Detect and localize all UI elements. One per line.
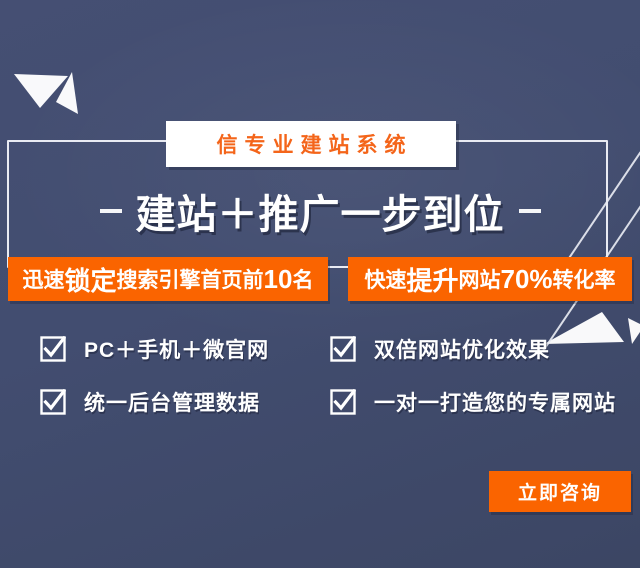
headline-dash-right bbox=[519, 209, 541, 213]
badge-text-segment: 名 bbox=[292, 264, 313, 294]
badge-text-segment: 10 bbox=[264, 264, 293, 295]
feature-item: PC＋手机＋微官网 bbox=[40, 334, 269, 364]
badge-text-segment: 网站 bbox=[458, 264, 500, 294]
feature-label: 一对一打造您的专属网站 bbox=[374, 387, 616, 417]
feature-item: 双倍网站优化效果 bbox=[330, 334, 550, 364]
badge-text-segment: 快速 bbox=[364, 264, 406, 294]
badge-text-segment: 迅速 bbox=[23, 264, 65, 294]
page-title: 建站＋推广一步到位 bbox=[136, 182, 505, 240]
checkbox-checked-icon bbox=[330, 336, 356, 362]
headline-dash-left bbox=[100, 209, 122, 213]
checkbox-checked-icon bbox=[40, 336, 66, 362]
badge-text-segment: 70% bbox=[500, 264, 552, 295]
title-box-label: 信专业建站系统 bbox=[210, 129, 413, 159]
headline-row: 建站＋推广一步到位 bbox=[0, 182, 640, 240]
checkbox-checked-icon bbox=[40, 389, 66, 415]
promo-banner: 信专业建站系统 建站＋推广一步到位 迅速锁定搜索引擎首页前10名 快速提升网站7… bbox=[0, 0, 640, 568]
title-box: 信专业建站系统 bbox=[166, 121, 456, 167]
checkbox-checked-icon bbox=[330, 389, 356, 415]
consult-now-button[interactable]: 立即咨询 bbox=[489, 471, 631, 512]
feature-label: 统一后台管理数据 bbox=[84, 387, 260, 417]
feature-list: PC＋手机＋微官网 双倍网站优化效果 统一后台管理数据 一对一打造您的专属网站 bbox=[0, 330, 640, 430]
paper-plane-top-left-icon bbox=[6, 52, 116, 120]
feature-label: PC＋手机＋微官网 bbox=[84, 334, 269, 364]
badge-row: 迅速锁定搜索引擎首页前10名 快速提升网站70%转化率 bbox=[0, 257, 640, 301]
badge-search-ranking: 迅速锁定搜索引擎首页前10名 bbox=[8, 257, 328, 301]
feature-label: 双倍网站优化效果 bbox=[374, 334, 550, 364]
badge-text-segment: 提升 bbox=[406, 261, 458, 298]
badge-text-segment: 锁定 bbox=[65, 261, 117, 298]
badge-conversion-rate: 快速提升网站70%转化率 bbox=[348, 257, 632, 301]
badge-text-segment: 搜索引擎首页前 bbox=[117, 264, 264, 294]
feature-item: 一对一打造您的专属网站 bbox=[330, 387, 616, 417]
feature-item: 统一后台管理数据 bbox=[40, 387, 260, 417]
badge-text-segment: 转化率 bbox=[553, 264, 616, 294]
